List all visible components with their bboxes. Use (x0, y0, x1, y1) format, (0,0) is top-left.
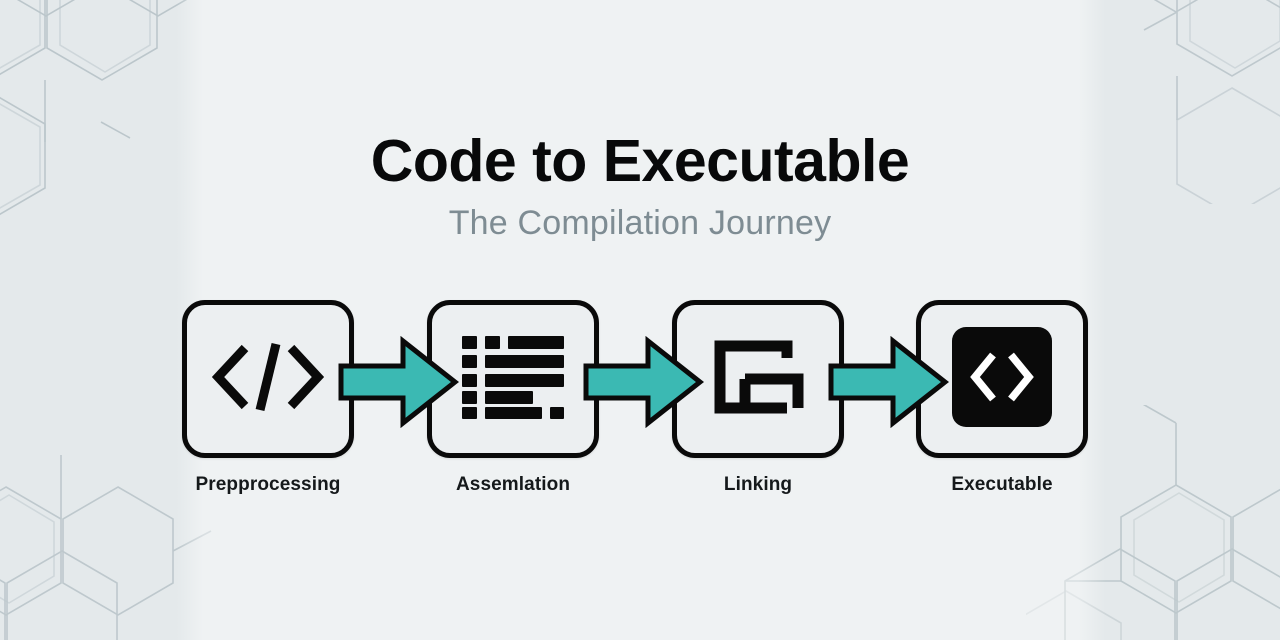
code-brackets-icon (212, 340, 324, 419)
arrow-right-icon (827, 336, 949, 428)
chain-link-icon (709, 335, 807, 424)
arrow-right-icon (582, 336, 704, 428)
compilation-pipeline: Prepprocessing (182, 300, 1088, 500)
pipeline-step-preprocessing[interactable]: Prepprocessing (182, 300, 354, 496)
arrow-right-icon (337, 336, 459, 428)
executable-binary-icon (950, 325, 1054, 434)
infographic-canvas: Code to Executable The Compilation Journ… (0, 0, 1280, 640)
step-label: Assemlation (427, 474, 599, 496)
step-label: Prepprocessing (182, 474, 354, 496)
hexagon-watermark-top-left (0, 0, 230, 227)
assembly-list-icon (460, 334, 566, 425)
step-card[interactable] (182, 300, 354, 458)
step-label: Executable (916, 474, 1088, 496)
step-label: Linking (672, 474, 844, 496)
page-subtitle: The Compilation Journey (0, 206, 1280, 240)
page-title: Code to Executable (0, 132, 1280, 191)
